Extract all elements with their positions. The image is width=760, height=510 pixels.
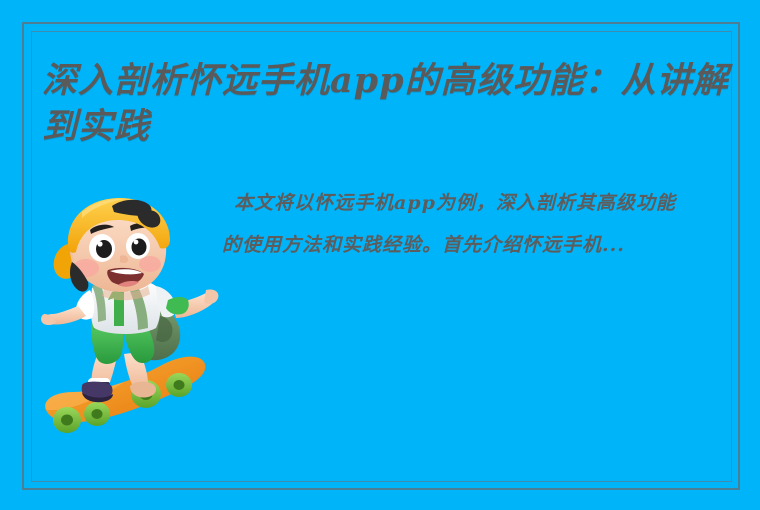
arm-right-shape bbox=[166, 289, 218, 318]
boy-on-skateboard-illustration bbox=[38, 196, 228, 452]
arm-left-shape bbox=[41, 306, 86, 325]
poster-canvas: 深入剖析怀远手机app的高级功能：从讲解到实践 本文将以怀远手机app为例，深入… bbox=[0, 0, 760, 510]
article-summary: 本文将以怀远手机app为例，深入剖析其高级功能的使用方法和实践经验。首先介绍怀远… bbox=[222, 182, 692, 266]
shoe-shape bbox=[82, 378, 113, 402]
page-title: 深入剖析怀远手机app的高级功能：从讲解到实践 bbox=[42, 58, 742, 150]
skateboard-shape bbox=[45, 357, 205, 433]
